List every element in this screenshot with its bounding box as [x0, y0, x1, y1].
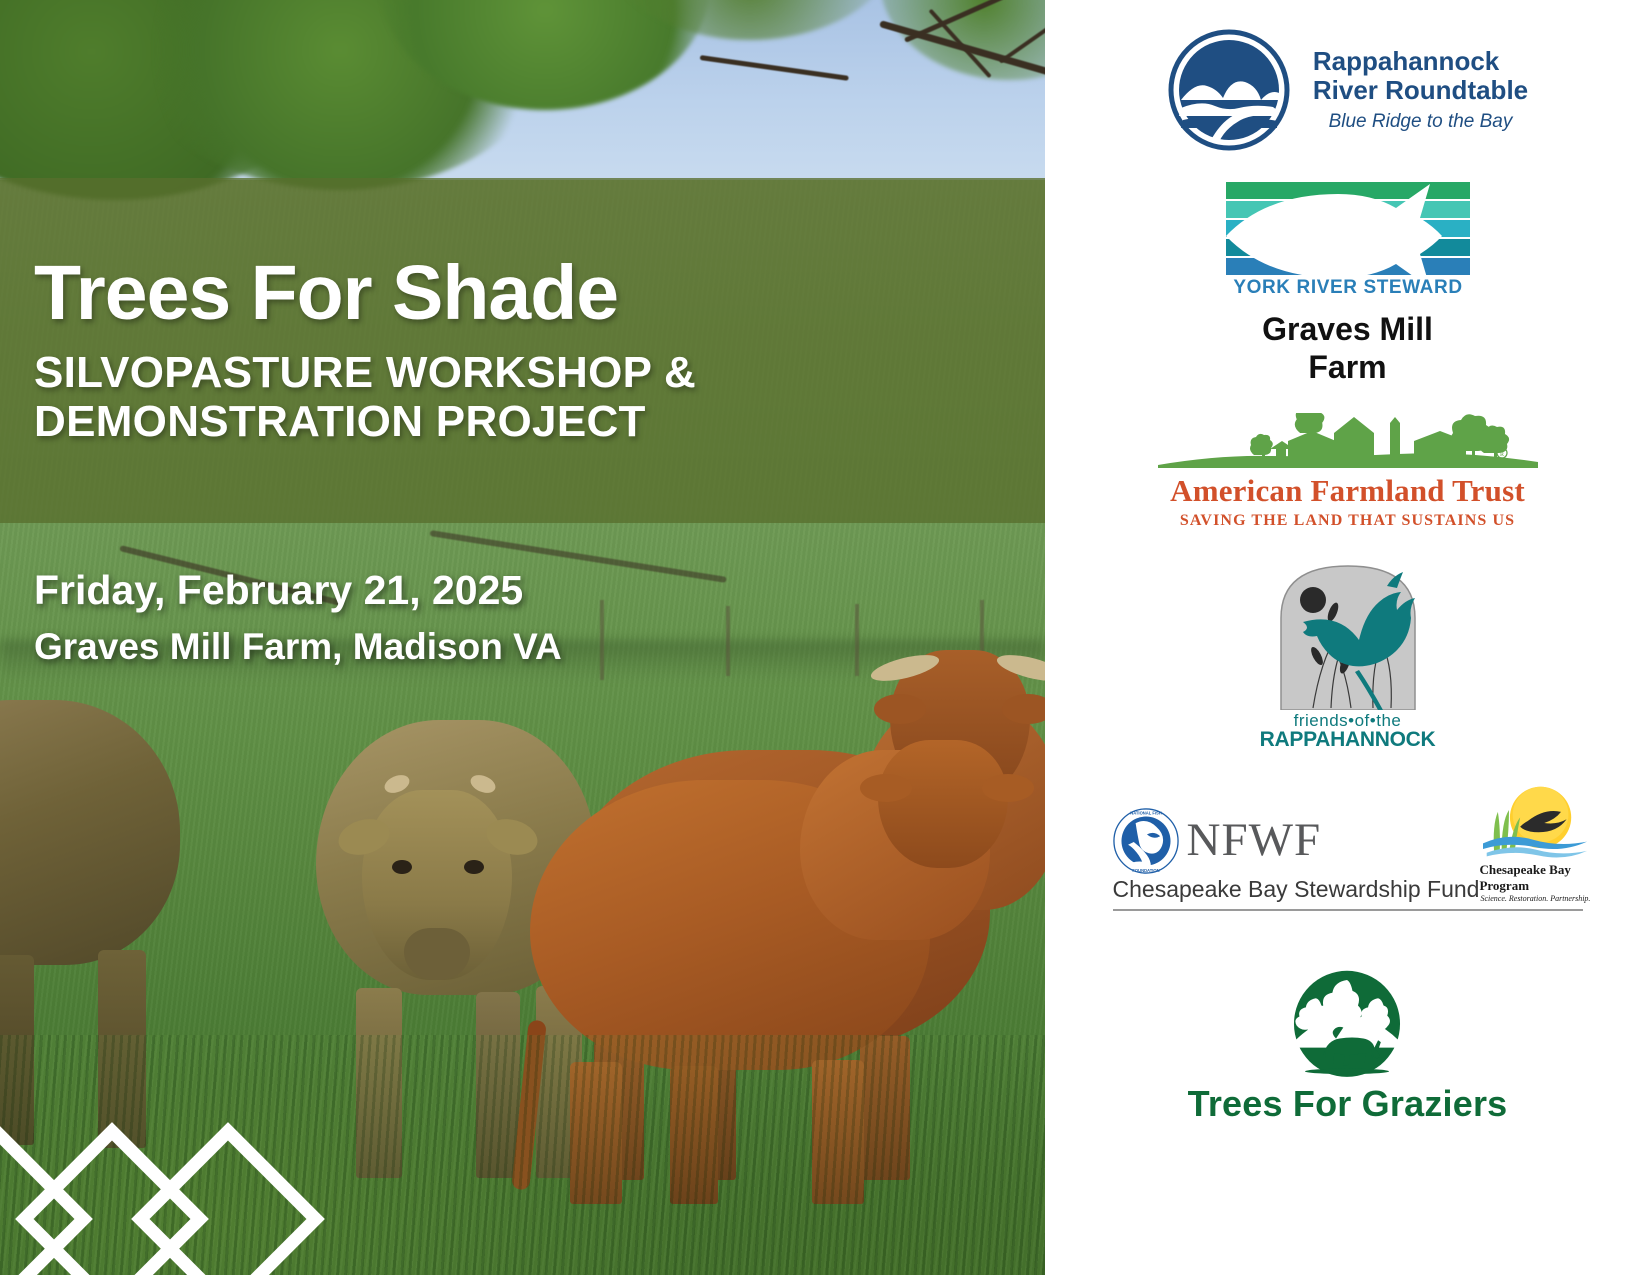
fish-stripes-icon: YORK RIVER STEWARD: [1218, 176, 1478, 296]
event-date: Friday, February 21, 2025: [34, 565, 934, 616]
roundtable-text: Rappahannock River Roundtable Blue Ridge…: [1313, 47, 1528, 133]
logo-york-river-steward: YORK RIVER STEWARD: [1218, 176, 1478, 296]
headline-text-group: Trees For Shade SILVOPASTURE WORKSHOP & …: [0, 178, 1045, 523]
york-river-steward-label: YORK RIVER STEWARD: [1233, 277, 1462, 296]
roundtable-line2: River Roundtable: [1313, 76, 1528, 105]
heron-reeds-icon: [1273, 560, 1423, 710]
graves-mill-line2: Farm: [1262, 348, 1433, 386]
logo-american-farmland-trust: R American Farmland Trust SAVING THE LAN…: [1158, 413, 1538, 530]
cow-muzzle: [404, 928, 470, 980]
page-subtitle: SILVOPASTURE WORKSHOP & DEMONSTRATION PR…: [34, 348, 1011, 447]
aft-name: American Farmland Trust: [1170, 473, 1525, 509]
sun-goose-water-icon: [1479, 784, 1591, 862]
sponsor-logo-column: Rappahannock River Roundtable Blue Ridge…: [1045, 0, 1650, 1275]
svg-text:R: R: [1499, 452, 1503, 458]
roundtable-tagline: Blue Ridge to the Bay: [1313, 111, 1528, 133]
cbp-tagline: Science. Restoration. Partnership.: [1480, 894, 1590, 903]
logo-chesapeake-bay-program: Chesapeake Bay Program Science. Restorat…: [1479, 784, 1591, 903]
logo-friends-of-the-rappahannock: friends•of•the RAPPAHANNOCK: [1273, 560, 1423, 750]
svg-text:FOUNDATION: FOUNDATION: [1132, 868, 1159, 873]
event-flyer: Trees For Shade SILVOPASTURE WORKSHOP & …: [0, 0, 1650, 1275]
roundtable-line1: Rappahannock: [1313, 47, 1528, 76]
cow-eye: [464, 860, 484, 874]
fotr-line2: RAPPAHANNOCK: [1260, 729, 1436, 750]
pasture-photo: Trees For Shade SILVOPASTURE WORKSHOP & …: [0, 0, 1045, 1275]
nfwf-mark-row: NATIONAL FISH FOUNDATION NFWF: [1113, 808, 1322, 874]
page-title: Trees For Shade: [34, 255, 1011, 332]
logo-rappahannock-river-roundtable: Rappahannock River Roundtable Blue Ridge…: [1068, 20, 1628, 160]
trees-for-graziers-name: Trees For Graziers: [1188, 1083, 1508, 1125]
farm-skyline-icon: R: [1158, 413, 1538, 471]
logo-nfwf: NATIONAL FISH FOUNDATION NFWF Chesapeake…: [1113, 808, 1480, 903]
logo-trees-for-graziers: Trees For Graziers: [1188, 967, 1508, 1125]
trees-cow-circle-icon: [1283, 967, 1411, 1077]
event-details: Friday, February 21, 2025 Graves Mill Fa…: [34, 565, 934, 671]
fotr-line1: friends•of•the: [1294, 712, 1402, 729]
funders-row: NATIONAL FISH FOUNDATION NFWF Chesapeake…: [1113, 784, 1583, 911]
diamond-decoration: [0, 1101, 410, 1275]
svg-text:NATIONAL FISH: NATIONAL FISH: [1130, 810, 1161, 815]
nfwf-fund-name: Chesapeake Bay Stewardship Fund: [1113, 876, 1480, 903]
graves-mill-line1: Graves Mill: [1262, 310, 1433, 348]
logo-graves-mill-farm: Graves Mill Farm: [1262, 310, 1433, 387]
nfwf-seal-icon: NATIONAL FISH FOUNDATION: [1113, 808, 1179, 874]
river-mountains-circle-icon: [1167, 28, 1291, 152]
event-location: Graves Mill Farm, Madison VA: [34, 624, 934, 670]
nfwf-letters: NFWF: [1187, 818, 1322, 863]
cow-eye: [392, 860, 412, 874]
cbp-name: Chesapeake Bay Program: [1479, 862, 1591, 894]
aft-tagline: SAVING THE LAND THAT SUSTAINS US: [1180, 512, 1515, 530]
